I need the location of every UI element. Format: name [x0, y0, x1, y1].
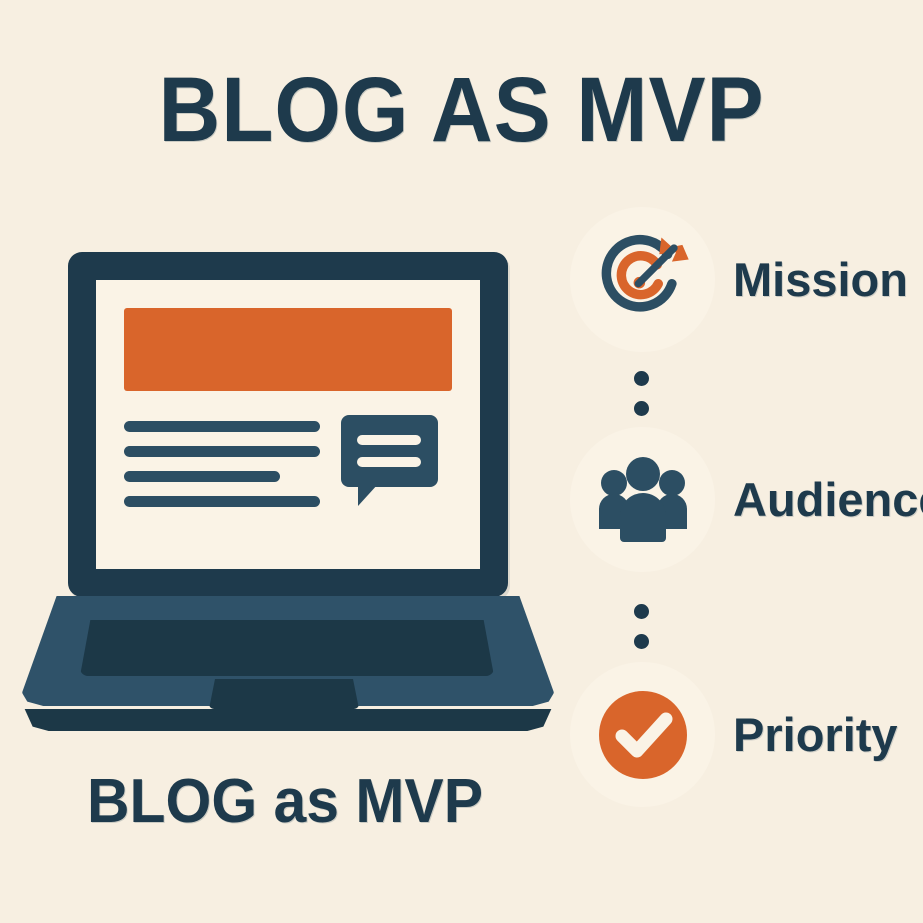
- feature-item-priority[interactable]: Priority: [570, 662, 898, 807]
- dot-connector-icon: [634, 634, 649, 649]
- dot-connector-icon: [634, 604, 649, 619]
- laptop-keyboard: [80, 620, 494, 676]
- comment-bubble-icon: [341, 415, 438, 487]
- feature-badge: [570, 427, 715, 572]
- blog-post-banner: [124, 308, 452, 391]
- feature-label-priority: Priority: [733, 707, 898, 762]
- infographic-canvas: BLOG AS MVP BLOG as MVP: [0, 0, 923, 923]
- feature-item-audience[interactable]: Audience: [570, 427, 923, 572]
- laptop-caption: BLOG as MVP: [14, 766, 556, 837]
- feature-badge: [570, 662, 715, 807]
- feature-label-audience: Audience: [733, 472, 923, 527]
- blog-text-line: [124, 471, 280, 482]
- feature-item-mission[interactable]: Mission: [570, 207, 908, 352]
- blog-text-line: [124, 496, 320, 507]
- page-title: BLOG AS MVP: [32, 62, 890, 159]
- blog-text-line: [124, 421, 320, 432]
- dot-connector-icon: [634, 371, 649, 386]
- feature-label-mission: Mission: [733, 252, 908, 307]
- target-arrow-icon: [590, 227, 695, 332]
- laptop-screen: [96, 280, 480, 569]
- people-group-icon: [593, 454, 693, 546]
- blog-text-line: [124, 446, 320, 457]
- dot-connector-icon: [634, 401, 649, 416]
- laptop-trackpad: [209, 679, 359, 709]
- laptop-front-lip: [22, 709, 554, 731]
- check-circle-icon: [596, 688, 690, 782]
- comment-bubble-line: [357, 435, 421, 445]
- feature-badge: [570, 207, 715, 352]
- comment-bubble-line: [357, 457, 421, 467]
- comment-bubble-tail-icon: [358, 484, 378, 506]
